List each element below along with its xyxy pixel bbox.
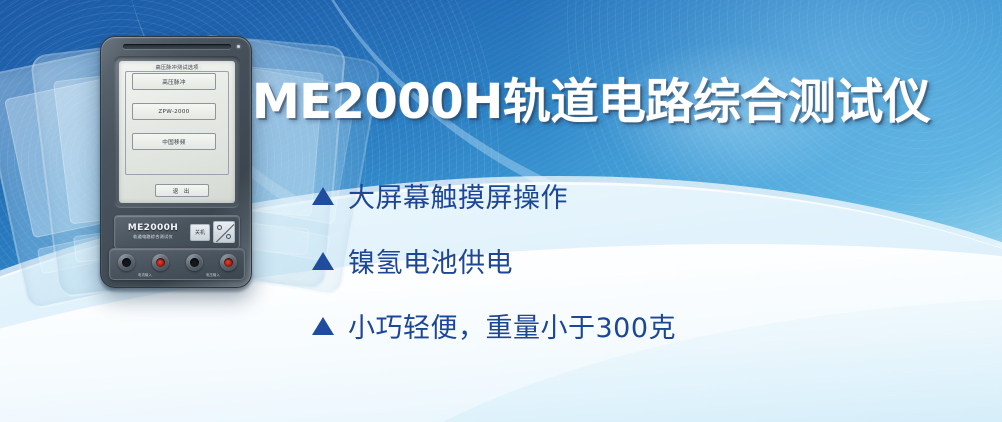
feature-label-1: 大屏幕触摸屏操作 (348, 176, 568, 215)
feature-item-1: 大屏幕触摸屏操作 (312, 176, 676, 215)
lcd-button-zpw-2000[interactable]: ZPW-2000 (132, 103, 216, 120)
jack-voltage-red[interactable] (220, 254, 237, 271)
jack-hole (190, 258, 199, 267)
logo-slash-decor (214, 221, 235, 243)
feature-label-3: 小巧轻便，重量小于300克 (348, 306, 676, 345)
jack-label-current: 电流输入 (114, 272, 176, 277)
speaker-grille (123, 44, 231, 49)
feature-list: 大屏幕触摸屏操作 镍氢电池供电 小巧轻便，重量小于300克 (312, 176, 676, 345)
product-stage: 高压脉冲测试选项 高压脉冲 ZPW-2000 中国移频 退 出 ME2000H … (0, 0, 340, 422)
triangle-marker-icon (312, 252, 334, 270)
me2000h-device: 高压脉冲测试选项 高压脉冲 ZPW-2000 中国移频 退 出 ME2000H … (100, 36, 252, 288)
lcd-button-high-voltage-pulse[interactable]: 高压脉冲 (132, 73, 216, 90)
lcd-button-china-frequency-shift[interactable]: 中国移频 (132, 133, 216, 150)
lcd-group-legend: 高压脉冲测试选项 (152, 66, 201, 71)
jack-hole (122, 258, 131, 267)
manufacturer-logo-icon[interactable] (213, 221, 235, 243)
jack-current-red[interactable] (152, 254, 169, 271)
device-brand-block: ME2000H 轨道电路综合测试仪 (119, 224, 187, 239)
jack-label-voltage: 电压输入 (182, 272, 244, 277)
jack-voltage-black[interactable] (186, 254, 203, 271)
screen-bezel: 高压脉冲测试选项 高压脉冲 ZPW-2000 中国移频 退 出 (114, 56, 240, 208)
feature-item-3: 小巧轻便，重量小于300克 (312, 306, 676, 345)
product-banner: 高压脉冲测试选项 高压脉冲 ZPW-2000 中国移频 退 出 ME2000H … (0, 0, 1002, 422)
jack-current-black[interactable] (118, 254, 135, 271)
jack-hole (224, 258, 233, 267)
logo-dot-decor (226, 234, 231, 239)
device-jack-panel: 电流输入 电压输入 (109, 248, 245, 280)
triangle-marker-icon (312, 317, 334, 335)
device-model-name: ME2000H (128, 224, 179, 233)
logo-dot-decor (217, 225, 222, 230)
feature-label-2: 镍氢电池供电 (348, 241, 513, 280)
triangle-marker-icon (312, 187, 334, 205)
device-lcd-screen[interactable]: 高压脉冲测试选项 高压脉冲 ZPW-2000 中国移频 退 出 (119, 61, 235, 203)
status-led-icon (237, 45, 240, 48)
banner-headline: ME2000H轨道电路综合测试仪 (252, 78, 930, 126)
feature-item-2: 镍氢电池供电 (312, 241, 676, 280)
device-subtitle: 轨道电路综合测试仪 (133, 235, 173, 239)
jack-hole (156, 258, 165, 267)
device-label-panel: ME2000H 轨道电路综合测试仪 关机 (114, 215, 240, 249)
power-off-button[interactable]: 关机 (190, 224, 210, 241)
lcd-button-exit[interactable]: 退 出 (155, 184, 209, 197)
